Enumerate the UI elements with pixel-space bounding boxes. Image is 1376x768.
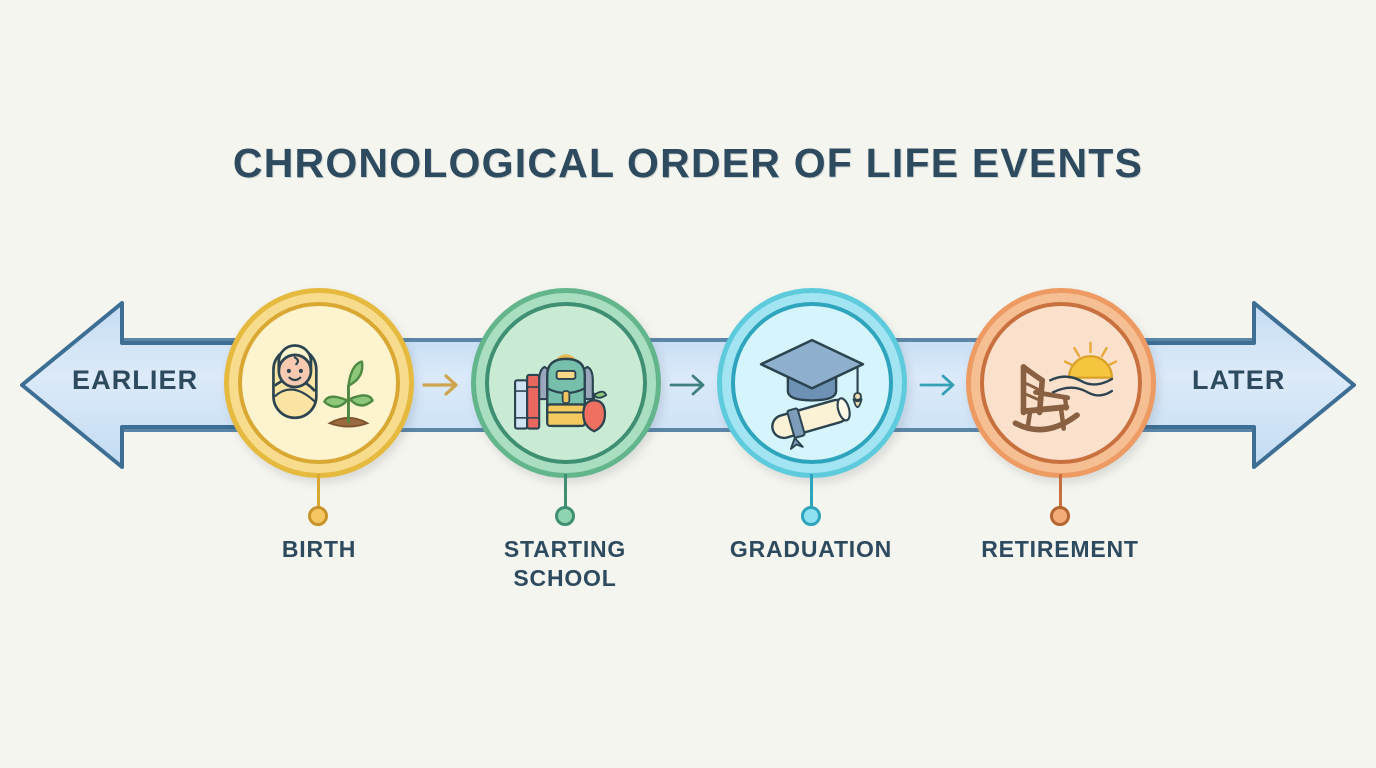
school-connector-dot — [555, 506, 575, 526]
milestone-label-graduation: GRADUATION — [681, 535, 941, 564]
school-connector-stem — [564, 474, 567, 510]
arrow-birth-to-school-icon — [420, 368, 466, 402]
graduation-connector-dot — [801, 506, 821, 526]
milestone-label-retirement: RETIREMENT — [930, 535, 1190, 564]
milestone-graduation[interactable] — [717, 288, 907, 478]
earlier-label: EARLIER — [72, 365, 198, 396]
later-label: LATER — [1192, 365, 1286, 396]
graduation-connector-stem — [810, 474, 813, 510]
milestone-label-line: STARTING — [435, 535, 695, 564]
rocking-chair-and-sunset-icon — [994, 316, 1128, 450]
milestone-label-birth: BIRTH — [189, 535, 449, 564]
milestone-starting-school[interactable] — [471, 288, 661, 478]
backpack-books-apple-icon — [499, 316, 633, 450]
graduation-cap-and-diploma-icon — [745, 316, 879, 450]
birth-connector-dot — [308, 506, 328, 526]
milestone-label-line: RETIREMENT — [930, 535, 1190, 564]
milestone-label-line: BIRTH — [189, 535, 449, 564]
milestone-label-line: SCHOOL — [435, 564, 695, 593]
retirement-connector-dot — [1050, 506, 1070, 526]
page-title: CHRONOLOGICAL ORDER OF LIFE EVENTS — [0, 140, 1376, 187]
arrow-graduation-to-retirement-icon — [917, 368, 963, 402]
milestone-birth[interactable] — [224, 288, 414, 478]
milestone-label-starting-school: STARTING SCHOOL — [435, 535, 695, 593]
milestone-label-line: GRADUATION — [681, 535, 941, 564]
arrow-school-to-graduation-icon — [667, 368, 713, 402]
birth-connector-stem — [317, 474, 320, 510]
swaddled-baby-and-sprout-icon — [252, 316, 386, 450]
infographic-canvas: CHRONOLOGICAL ORDER OF LIFE EVENTS EARLI… — [0, 0, 1376, 768]
retirement-connector-stem — [1059, 474, 1062, 510]
milestone-retirement[interactable] — [966, 288, 1156, 478]
